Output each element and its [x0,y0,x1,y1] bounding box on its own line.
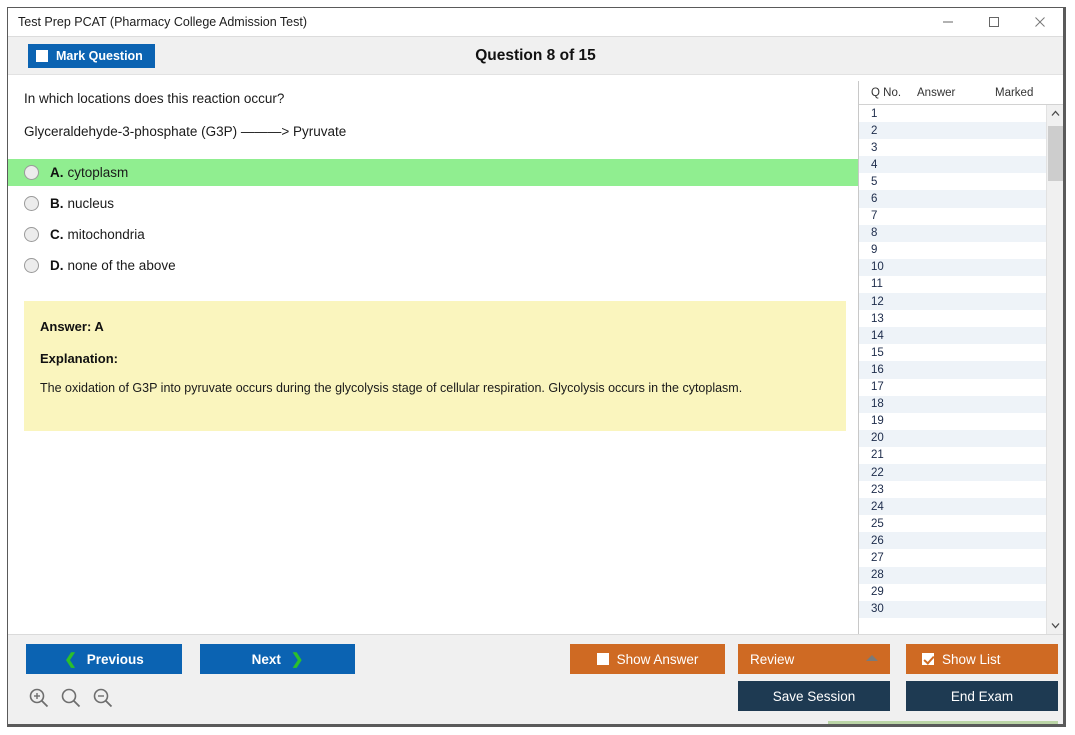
zoom-out-icon[interactable] [92,687,114,709]
question-number-cell: 5 [859,176,917,188]
question-list-row[interactable]: 27 [859,549,1046,566]
option-text-b: nucleus [68,196,115,211]
end-exam-button[interactable]: End Exam [906,681,1058,711]
question-number-cell: 24 [859,501,917,513]
show-answer-checkbox-icon[interactable] [597,653,609,665]
question-list-row[interactable]: 3 [859,139,1046,156]
question-list-scrollbar[interactable] [1046,105,1063,634]
explanation-label: Explanation: [40,351,830,366]
option-letter-b: B. [50,196,64,211]
status-accent-bar [828,721,1058,724]
answer-options-list: A. cytoplasm B. nucleus C. mitochondria … [8,159,858,279]
question-number-cell: 3 [859,142,917,154]
column-header-marked: Marked [995,87,1063,99]
question-number-cell: 13 [859,313,917,325]
page-title: Question 8 of 15 [8,47,1063,65]
question-list-row[interactable]: 4 [859,156,1046,173]
question-number-cell: 15 [859,347,917,359]
scrollbar-track[interactable] [1047,122,1064,617]
question-list-row[interactable]: 17 [859,379,1046,396]
question-list-row[interactable]: 11 [859,276,1046,293]
question-number-cell: 20 [859,432,917,444]
option-text-d: none of the above [68,258,176,273]
question-number-cell: 11 [859,278,917,290]
question-number-cell: 2 [859,125,917,137]
question-list-row[interactable]: 16 [859,361,1046,378]
option-letter-c: C. [50,227,64,242]
question-list-row[interactable]: 22 [859,464,1046,481]
question-list-row[interactable]: 8 [859,225,1046,242]
question-list-row[interactable]: 1 [859,105,1046,122]
question-list-row[interactable]: 6 [859,190,1046,207]
question-number-cell: 21 [859,449,917,461]
question-number-cell: 29 [859,586,917,598]
maximize-icon[interactable] [971,8,1017,36]
scrollbar-thumb[interactable] [1048,126,1063,181]
question-number-cell: 4 [859,159,917,171]
option-row-b[interactable]: B. nucleus [8,190,858,217]
scroll-up-icon[interactable] [1047,105,1064,122]
footer-toolbar: ❮ Previous Next ❯ [8,634,1063,724]
mark-question-label: Mark Question [56,49,143,63]
question-list-row[interactable]: 2 [859,122,1046,139]
question-number-cell: 30 [859,603,917,615]
question-list-row[interactable]: 14 [859,327,1046,344]
zoom-reset-icon[interactable] [60,687,82,709]
question-number-cell: 6 [859,193,917,205]
show-answer-button[interactable]: Show Answer [570,644,725,674]
question-pane: In which locations does this reaction oc… [8,75,858,634]
mark-question-checkbox-icon[interactable] [36,50,48,62]
column-header-q-no: Q No. [859,87,917,99]
application-window: Test Prep PCAT (Pharmacy College Admissi… [7,7,1066,727]
radio-icon-c[interactable] [24,227,39,242]
question-number-cell: 23 [859,484,917,496]
minimize-icon[interactable] [925,8,971,36]
option-text-c: mitochondria [68,227,145,242]
question-number-cell: 27 [859,552,917,564]
question-list-row[interactable]: 13 [859,310,1046,327]
radio-icon-a[interactable] [24,165,39,180]
question-number-cell: 26 [859,535,917,547]
next-button[interactable]: Next ❯ [200,644,355,674]
zoom-in-icon[interactable] [28,687,50,709]
question-list-row[interactable]: 20 [859,430,1046,447]
question-list-row[interactable]: 12 [859,293,1046,310]
scroll-down-icon[interactable] [1047,617,1064,634]
question-number-cell: 22 [859,467,917,479]
option-letter-d: D. [50,258,64,273]
answer-value: Answer: A [40,319,830,334]
question-list-row[interactable]: 10 [859,259,1046,276]
question-list-row[interactable]: 5 [859,173,1046,190]
window-title: Test Prep PCAT (Pharmacy College Admissi… [8,15,307,29]
question-number-cell: 19 [859,415,917,427]
question-list-row[interactable]: 18 [859,396,1046,413]
question-list-row[interactable]: 24 [859,498,1046,515]
question-list-row[interactable]: 26 [859,532,1046,549]
question-list-row[interactable]: 19 [859,413,1046,430]
question-prompt: In which locations does this reaction oc… [8,89,858,108]
column-header-answer: Answer [917,87,995,99]
chevron-right-icon: ❯ [291,650,304,668]
radio-icon-d[interactable] [24,258,39,273]
question-list-row[interactable]: 29 [859,584,1046,601]
question-list-row[interactable]: 9 [859,242,1046,259]
show-list-label: Show List [942,652,1001,667]
question-reaction: Glyceraldehyde-3-phosphate (G3P) ———> Py… [8,122,858,141]
save-session-button[interactable]: Save Session [738,681,890,711]
question-number-cell: 14 [859,330,917,342]
question-number-cell: 9 [859,244,917,256]
header-bar: Mark Question Question 8 of 15 [8,37,1063,75]
question-list-rows: 1234567891011121314151617181920212223242… [859,105,1046,634]
option-row-d[interactable]: D. none of the above [8,252,858,279]
question-number-cell: 10 [859,261,917,273]
chevron-left-icon: ❮ [64,650,77,668]
review-dropdown[interactable]: Review [738,644,890,674]
option-row-a[interactable]: A. cytoplasm [8,159,858,186]
close-icon[interactable] [1017,8,1063,36]
end-exam-label: End Exam [951,689,1013,704]
question-number-cell: 8 [859,227,917,239]
option-text-a: cytoplasm [68,165,129,180]
question-list-row[interactable]: 28 [859,567,1046,584]
body-area: In which locations does this reaction oc… [8,75,1063,634]
question-list-row[interactable]: 21 [859,447,1046,464]
question-number-cell: 25 [859,518,917,530]
radio-icon-b[interactable] [24,196,39,211]
show-list-checkbox-icon[interactable] [922,653,934,665]
question-number-cell: 7 [859,210,917,222]
question-number-cell: 17 [859,381,917,393]
show-answer-label: Show Answer [617,652,699,667]
question-list-row[interactable]: 25 [859,515,1046,532]
mark-question-button[interactable]: Mark Question [28,44,155,68]
title-bar: Test Prep PCAT (Pharmacy College Admissi… [8,8,1063,37]
option-row-c[interactable]: C. mitochondria [8,221,858,248]
question-list-row[interactable]: 15 [859,344,1046,361]
show-list-button[interactable]: Show List [906,644,1058,674]
question-number-cell: 16 [859,364,917,376]
question-list-scroll-area: 1234567891011121314151617181920212223242… [859,105,1063,634]
question-number-cell: 1 [859,108,917,120]
explanation-text: The oxidation of G3P into pyruvate occur… [40,380,830,397]
review-label: Review [750,652,794,667]
question-list-row[interactable]: 23 [859,481,1046,498]
zoom-controls [28,687,114,709]
previous-button[interactable]: ❮ Previous [26,644,182,674]
question-number-cell: 18 [859,398,917,410]
next-label: Next [252,652,281,667]
question-number-cell: 28 [859,569,917,581]
question-list-panel: Q No. Answer Marked 12345678910111213141… [858,81,1063,634]
question-list-row[interactable]: 7 [859,208,1046,225]
question-list-row[interactable]: 30 [859,601,1046,618]
save-session-label: Save Session [773,689,856,704]
chevron-up-icon [866,655,878,661]
option-letter-a: A. [50,165,64,180]
previous-label: Previous [87,652,144,667]
answer-explanation-box: Answer: A Explanation: The oxidation of … [24,301,846,431]
question-list-header: Q No. Answer Marked [859,81,1063,105]
question-number-cell: 12 [859,296,917,308]
